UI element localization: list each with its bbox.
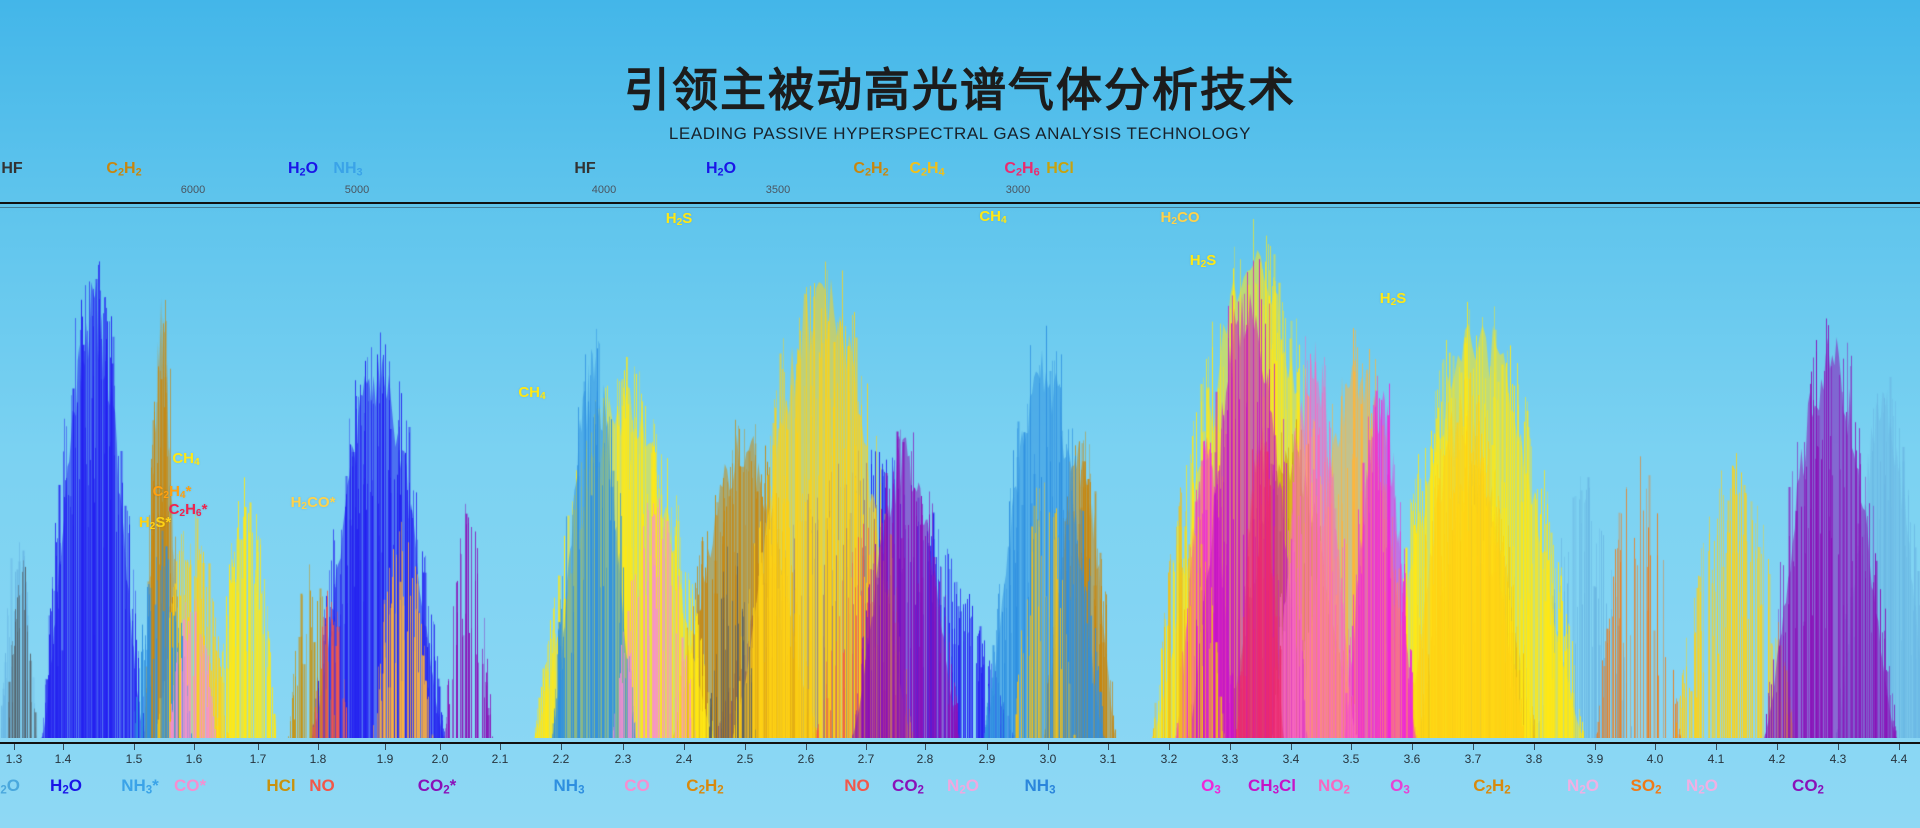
bottom-axis-tick-mark (1351, 744, 1352, 750)
plot-gas-label-h2s: H2S (1190, 252, 1217, 270)
top-gas-label-nh3: NH3 (333, 160, 362, 178)
top-gas-label-c2h4: C2H4 (909, 160, 944, 178)
bottom-gas-label-o3: O3 (1390, 776, 1410, 797)
plot-gas-label-h2s: H2S (1380, 290, 1407, 308)
bottom-gas-label-n2o: N2O (947, 776, 979, 797)
bottom-axis-tick-mark (194, 744, 195, 750)
plot-gas-label-ch4: CH4 (518, 384, 545, 402)
plot-gas-label-h2s-star: H2S* (139, 514, 171, 532)
bottom-axis-tick-mark (1412, 744, 1413, 750)
top-axis-tick-3000: 3000 (1006, 184, 1030, 196)
plot-gas-label-ch4: CH4 (979, 208, 1006, 226)
bottom-axis-tick-2.5: 2.5 (737, 752, 754, 766)
page-subtitle: LEADING PASSIVE HYPERSPECTRAL GAS ANALYS… (0, 124, 1920, 144)
bottom-axis-tick-mark (63, 744, 64, 750)
bottom-axis-tick-mark (561, 744, 562, 750)
plot-gas-label-c2h6-star: C2H6* (169, 501, 208, 519)
top-axis-tick-6000: 6000 (181, 184, 205, 196)
hero-banner: 引领主被动高光谱气体分析技术 LEADING PASSIVE HYPERSPEC… (0, 0, 1920, 828)
bottom-axis-tick-3.3: 3.3 (1222, 752, 1239, 766)
bottom-gas-label-no: NO (309, 776, 335, 796)
bottom-axis-tick-mark (1899, 744, 1900, 750)
plot-gas-label-c2h4-star: C2H4* (153, 483, 192, 501)
bottom-axis-tick-mark (14, 744, 15, 750)
bottom-axis-tick-mark (258, 744, 259, 750)
top-gas-label-h2o: H2O (706, 160, 736, 178)
bottom-gas-label-no: NO (844, 776, 870, 796)
plot-gas-label-h2co-star: H2CO* (291, 494, 336, 512)
bottom-axis-tick-3.9: 3.9 (1587, 752, 1604, 766)
spectrum-canvas (0, 208, 1920, 738)
bottom-axis-tick-3.1: 3.1 (1100, 752, 1117, 766)
bottom-axis-tick-mark (925, 744, 926, 750)
bottom-axis-tick-mark (1048, 744, 1049, 750)
plot-gas-label-h2co: H2CO (1160, 209, 1199, 227)
spectrum-plot: H2SCH4H2COH2SH2SCH4CH4C2H4*C2H6*H2S*H2CO… (0, 202, 1920, 744)
bottom-axis-tick-mark (987, 744, 988, 750)
bottom-gas-label-h2o: H2O (50, 776, 82, 797)
bottom-axis: 1.31.41.51.61.71.81.92.02.12.22.32.42.52… (0, 744, 1920, 828)
bottom-axis-tick-3.4: 3.4 (1283, 752, 1300, 766)
page-title: 引领主被动高光谱气体分析技术 (0, 54, 1920, 120)
bottom-gas-label-ch3cl: CH3Cl (1248, 776, 1296, 797)
bottom-axis-tick-mark (500, 744, 501, 750)
bottom-axis-tick-1.8: 1.8 (310, 752, 327, 766)
bottom-axis-tick-1.5: 1.5 (126, 752, 143, 766)
bottom-axis-tick-3.8: 3.8 (1526, 752, 1543, 766)
bottom-axis-tick-2.0: 2.0 (432, 752, 449, 766)
top-axis-tick-5000: 5000 (345, 184, 369, 196)
bottom-axis-tick-mark (1291, 744, 1292, 750)
bottom-axis-tick-3.0: 3.0 (1040, 752, 1057, 766)
bottom-gas-label-co2: CO2 (1792, 776, 1824, 797)
bottom-axis-tick-mark (1716, 744, 1717, 750)
bottom-gas-label-co-star: CO* (174, 776, 206, 796)
bottom-axis-tick-4.1: 4.1 (1708, 752, 1725, 766)
bottom-gas-label-so2: SO2 (1631, 776, 1662, 797)
top-gas-label-hf: HF (1, 160, 22, 178)
bottom-axis-tick-2.9: 2.9 (979, 752, 996, 766)
bottom-axis-tick-mark (745, 744, 746, 750)
bottom-axis-tick-mark (318, 744, 319, 750)
bottom-gas-label-c2h2: C2H2 (1473, 776, 1510, 797)
bottom-axis-tick-2.6: 2.6 (798, 752, 815, 766)
bottom-axis-tick-2.1: 2.1 (492, 752, 509, 766)
bottom-gas-label-co2-star: CO2* (418, 776, 457, 797)
bottom-axis-tick-2.8: 2.8 (917, 752, 934, 766)
bottom-axis-tick-mark (684, 744, 685, 750)
top-gas-label-c2h2: C2H2 (853, 160, 888, 178)
bottom-axis-tick-4.2: 4.2 (1769, 752, 1786, 766)
bottom-gas-label-co2: CO2 (892, 776, 924, 797)
top-gas-label-hf: HF (574, 160, 595, 178)
bottom-gas-label-no2: NO2 (1318, 776, 1350, 797)
bottom-axis-tick-1.7: 1.7 (250, 752, 267, 766)
bottom-axis-tick-1.9: 1.9 (377, 752, 394, 766)
bottom-axis-tick-mark (1230, 744, 1231, 750)
bottom-axis-tick-4.3: 4.3 (1830, 752, 1847, 766)
top-gas-label-c2h2: C2H2 (106, 160, 141, 178)
bottom-axis-tick-mark (1534, 744, 1535, 750)
bottom-axis-tick-4.4: 4.4 (1891, 752, 1908, 766)
plot-gas-label-ch4: CH4 (172, 450, 199, 468)
bottom-axis-tick-4.0: 4.0 (1647, 752, 1664, 766)
bottom-axis-tick-3.5: 3.5 (1343, 752, 1360, 766)
bottom-axis-tick-2.2: 2.2 (553, 752, 570, 766)
bottom-axis-tick-2.3: 2.3 (615, 752, 632, 766)
bottom-axis-tick-1.3: 1.3 (6, 752, 23, 766)
bottom-axis-tick-2.7: 2.7 (858, 752, 875, 766)
bottom-gas-label-nh3: NH3 (1025, 776, 1056, 797)
bottom-axis-tick-3.6: 3.6 (1404, 752, 1421, 766)
bottom-axis-tick-mark (1838, 744, 1839, 750)
bottom-gas-label-hcl: HCl (266, 776, 295, 796)
bottom-axis-tick-mark (1108, 744, 1109, 750)
bottom-gas-label-co: CO (624, 776, 650, 796)
top-gas-label-hcl: HCl (1046, 160, 1074, 178)
bottom-axis-tick-3.2: 3.2 (1161, 752, 1178, 766)
top-gas-label-c2h6: C2H6 (1004, 160, 1039, 178)
bottom-gas-label-n2o: N2O (1686, 776, 1718, 797)
bottom-axis-tick-2.4: 2.4 (676, 752, 693, 766)
top-axis-labels: HFC2H2H2ONH3HFH2OC2H2C2H4C2H6HCl60005000… (0, 160, 1920, 202)
plot-top-axis-line (0, 202, 1920, 204)
bottom-gas-label-n2o: N2O (1567, 776, 1599, 797)
top-gas-label-h2o: H2O (288, 160, 318, 178)
top-axis-tick-3500: 3500 (766, 184, 790, 196)
plot-gas-label-h2s: H2S (666, 210, 693, 228)
bottom-axis-tick-mark (1655, 744, 1656, 750)
top-axis-tick-4000: 4000 (592, 184, 616, 196)
bottom-axis-tick-mark (1595, 744, 1596, 750)
bottom-gas-label-o3: O3 (1201, 776, 1221, 797)
bottom-axis-tick-mark (866, 744, 867, 750)
bottom-axis-tick-mark (1473, 744, 1474, 750)
bottom-gas-label-c2h2: C2H2 (686, 776, 723, 797)
bottom-axis-tick-mark (385, 744, 386, 750)
bottom-axis-tick-3.7: 3.7 (1465, 752, 1482, 766)
bottom-gas-label-nh3-star: NH3* (121, 776, 159, 797)
bottom-axis-tick-mark (1169, 744, 1170, 750)
bottom-gas-label-nh3: NH3 (554, 776, 585, 797)
bottom-axis-tick-mark (623, 744, 624, 750)
bottom-axis-tick-mark (1777, 744, 1778, 750)
bottom-axis-tick-mark (806, 744, 807, 750)
bottom-axis-tick-1.4: 1.4 (55, 752, 72, 766)
bottom-axis-tick-mark (134, 744, 135, 750)
bottom-axis-tick-mark (440, 744, 441, 750)
bottom-axis-tick-1.6: 1.6 (186, 752, 203, 766)
bottom-gas-label-n2o: N2O (0, 776, 20, 797)
